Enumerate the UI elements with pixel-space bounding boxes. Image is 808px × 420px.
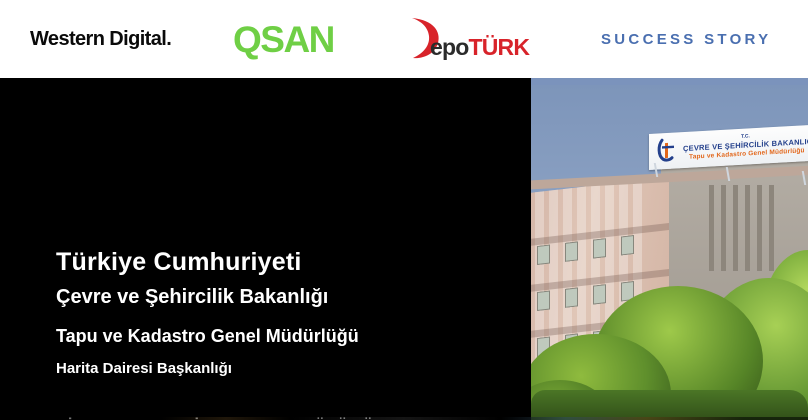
western-digital-trademark-mark: . <box>166 28 172 51</box>
depoturk-wordmark-part1: epo <box>430 34 469 60</box>
organization-title-line3: Tapu ve Kadastro Genel Müdürlüğü <box>56 326 359 347</box>
sponsor-logo-bar: Western Digital. QSAN epoTÜRK SUCCESS ST… <box>0 0 808 78</box>
ministry-emblem-icon <box>656 137 678 162</box>
depoturk-wordmark-part2: TÜRK <box>469 34 530 60</box>
western-digital-wordmark: Western Digital <box>30 28 166 51</box>
success-story-logo: SUCCESS STORY <box>601 0 791 78</box>
building-photograph: TAPU GENEL <box>531 85 808 420</box>
sign-tc-label: T.C. <box>741 133 750 139</box>
organization-title-line1: Türkiye Cumhuriyeti <box>56 248 302 277</box>
qsan-wordmark: QSAN <box>233 21 334 58</box>
organization-title-line2: Çevre ve Şehircilik Bakanlığı <box>56 286 328 309</box>
organization-title-line4: Harita Dairesi Başkanlığı <box>56 360 232 377</box>
hedge-row <box>531 390 808 420</box>
presentation-slide: Western Digital. QSAN epoTÜRK SUCCESS ST… <box>0 0 808 420</box>
western-digital-logo: Western Digital. <box>30 0 210 78</box>
title-panel: Türkiye Cumhuriyeti Çevre ve Şehircilik … <box>0 78 531 420</box>
depoturk-logo: epoTÜRK <box>404 0 554 78</box>
success-story-wordmark: SUCCESS STORY <box>601 31 771 48</box>
qsan-logo: QSAN <box>233 0 363 78</box>
